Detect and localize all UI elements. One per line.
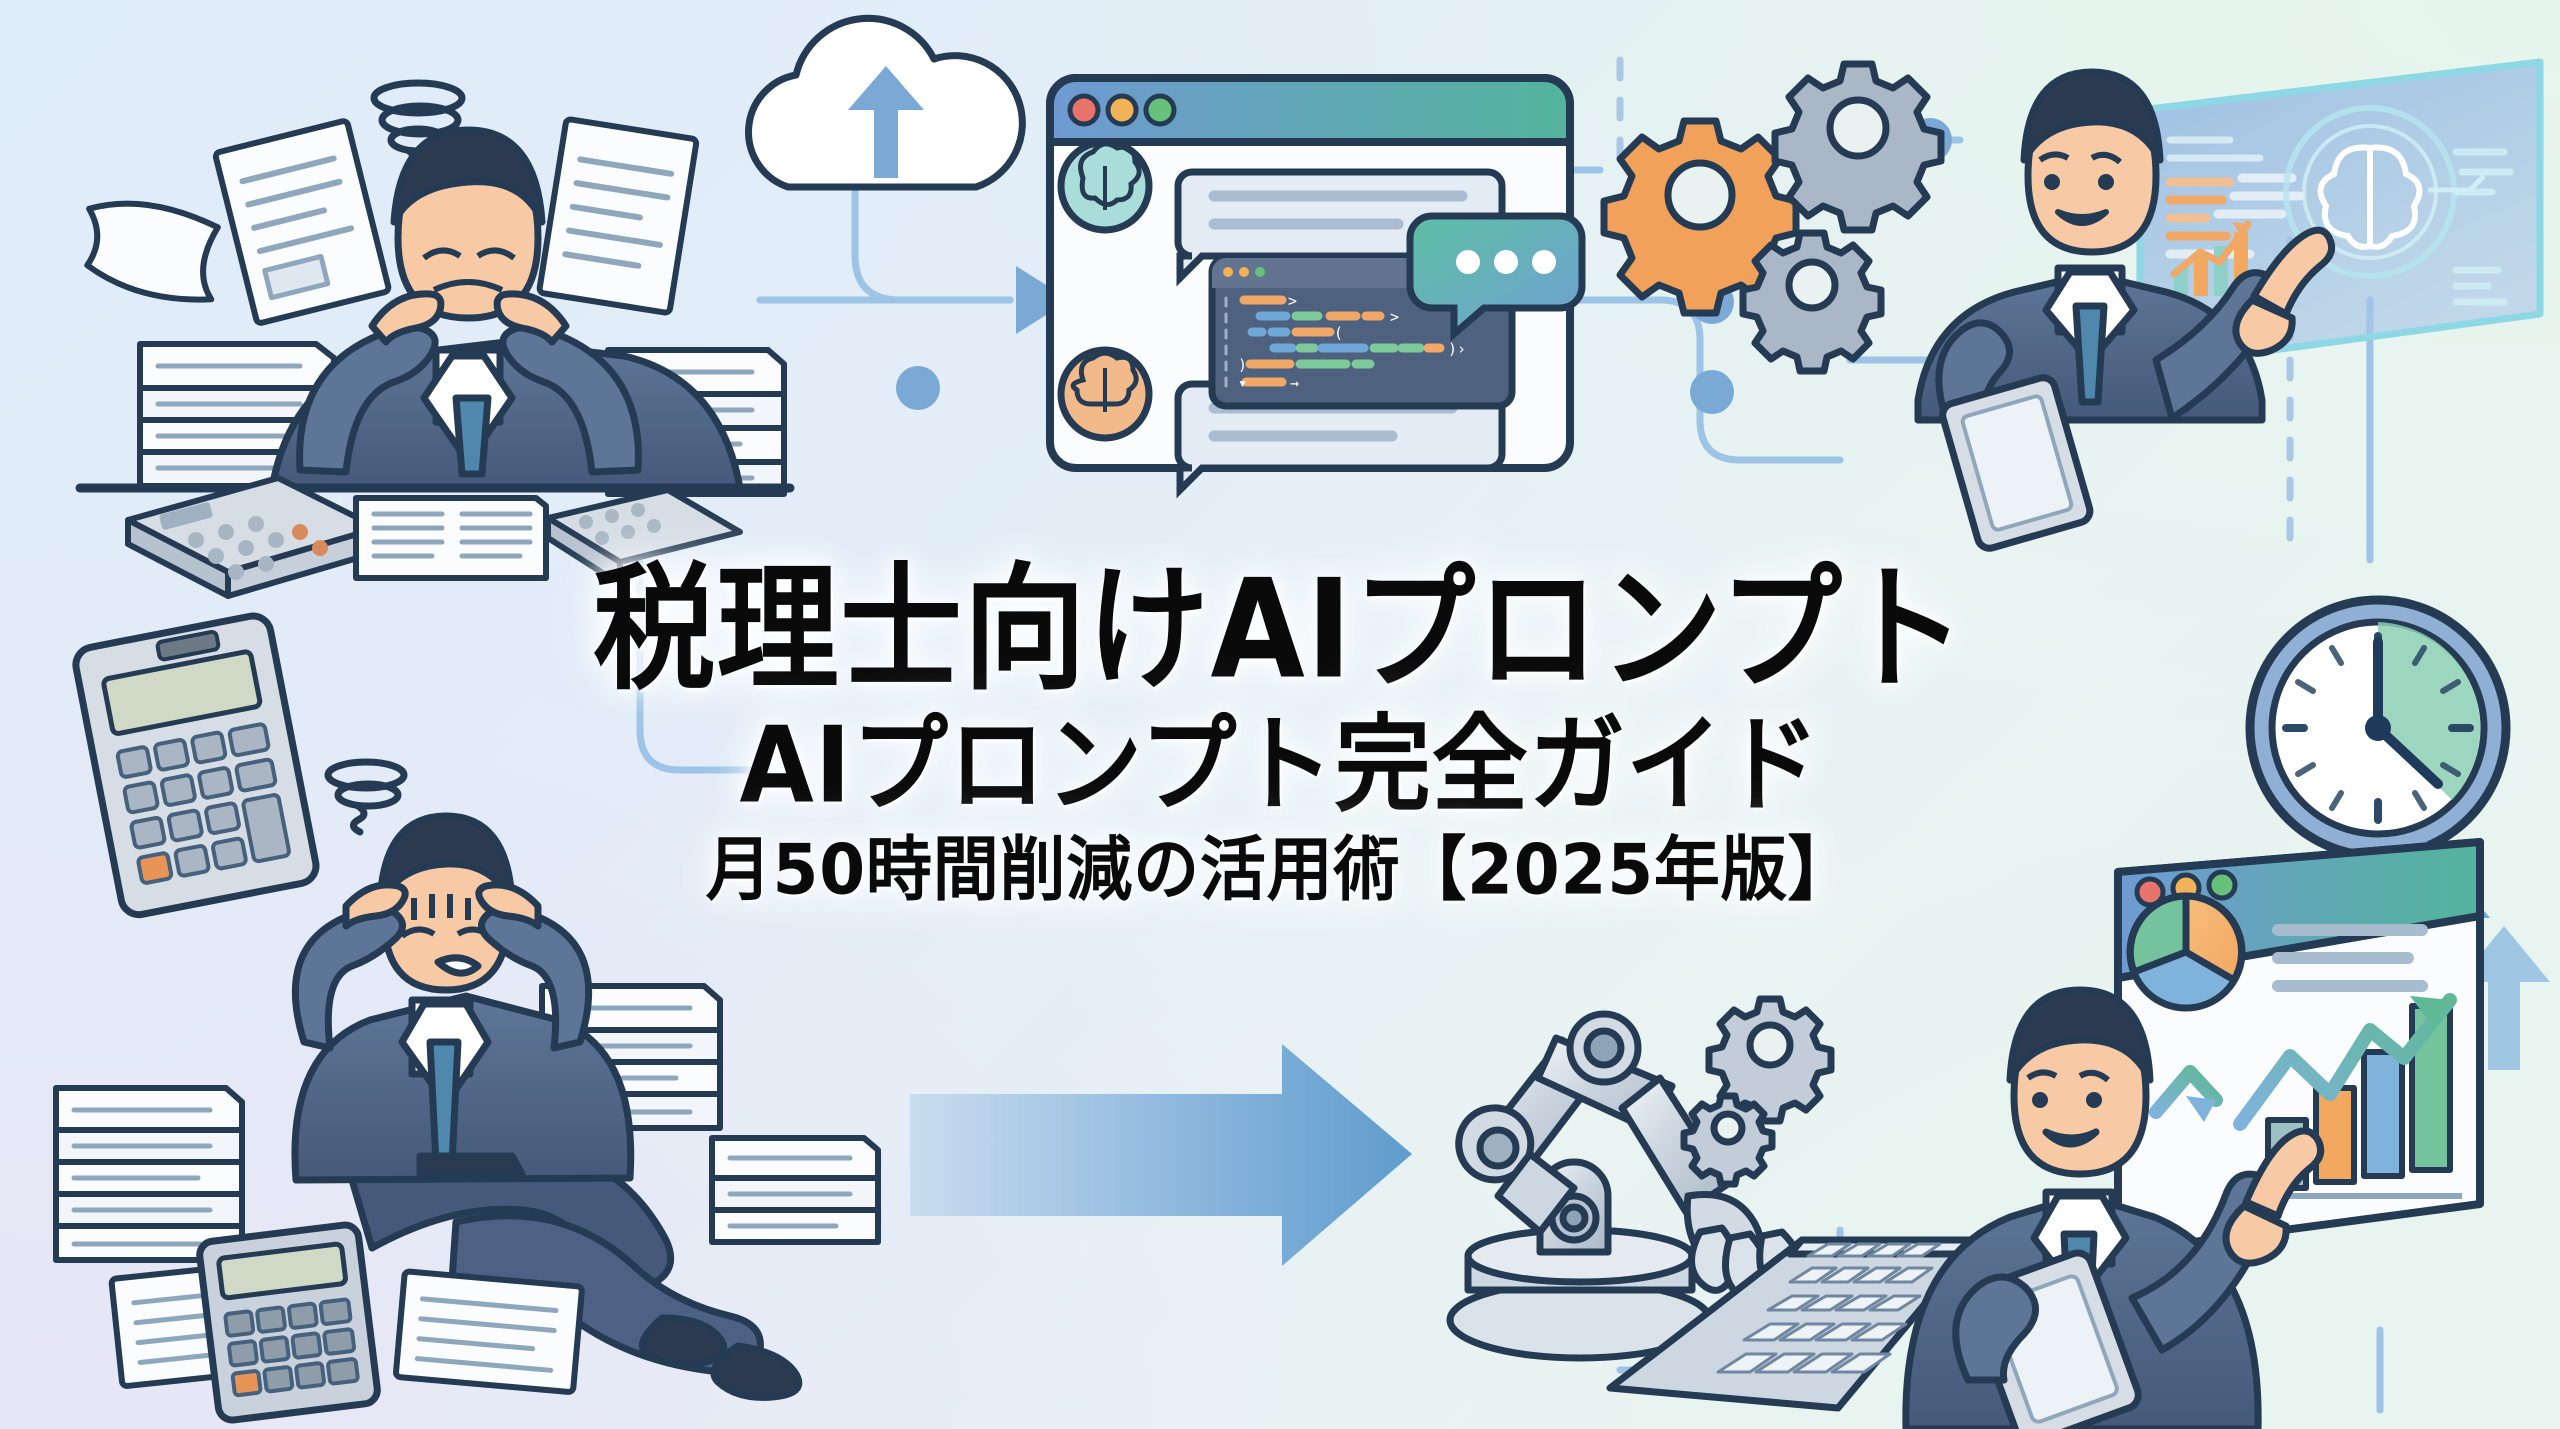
gear-cluster <box>1604 64 1941 371</box>
brain-avatar-teal <box>1061 142 1149 230</box>
calculator-left <box>128 478 378 596</box>
analytics-browser-window <box>2118 842 2480 1252</box>
analog-clock <box>2250 600 2506 856</box>
big-right-arrow <box>910 1044 1412 1266</box>
svg-text:)›: )› <box>1448 340 1466 358</box>
robot-automation <box>1450 999 1978 1408</box>
cloud-upload-icon <box>749 18 1023 187</box>
scene-bottom-left <box>56 613 878 1422</box>
gear-gray-bottom <box>1743 233 1881 371</box>
window-traffic-lights <box>1070 96 1174 124</box>
illustration-layer: >> ()› )▾ → <box>0 0 2560 1429</box>
svg-text:(: ( <box>1334 324 1343 342</box>
paper-stack-bl-far <box>712 1138 878 1242</box>
dizzy-swirl-2 <box>328 762 404 832</box>
scene-top-right <box>1918 62 2540 551</box>
brain-avatar-orange <box>1061 350 1149 438</box>
svg-text:): ) <box>1238 356 1247 374</box>
gear-tiny-robot <box>1684 1096 1772 1184</box>
svg-text:▾: ▾ <box>1238 374 1247 392</box>
svg-text:>: > <box>1288 292 1297 310</box>
scene-bottom-right <box>1906 840 2550 1429</box>
svg-text:→: → <box>1290 374 1299 392</box>
pie-chart <box>2130 896 2242 1008</box>
ai-chat-code-window: >> ()› )▾ → <box>1050 78 1582 490</box>
open-document-desk <box>356 498 546 578</box>
svg-text:>: > <box>1390 308 1399 326</box>
floor-calculator <box>198 1223 379 1421</box>
calculator-right <box>548 490 740 584</box>
scattered-document-2 <box>396 1271 583 1392</box>
eyecatch-banner: >> ()› )▾ → <box>0 0 2560 1429</box>
gear-gray-top <box>1775 64 1941 230</box>
large-calculator <box>73 613 319 918</box>
paper-stack-bl-left <box>56 1088 242 1260</box>
scene-top-left <box>76 83 790 596</box>
